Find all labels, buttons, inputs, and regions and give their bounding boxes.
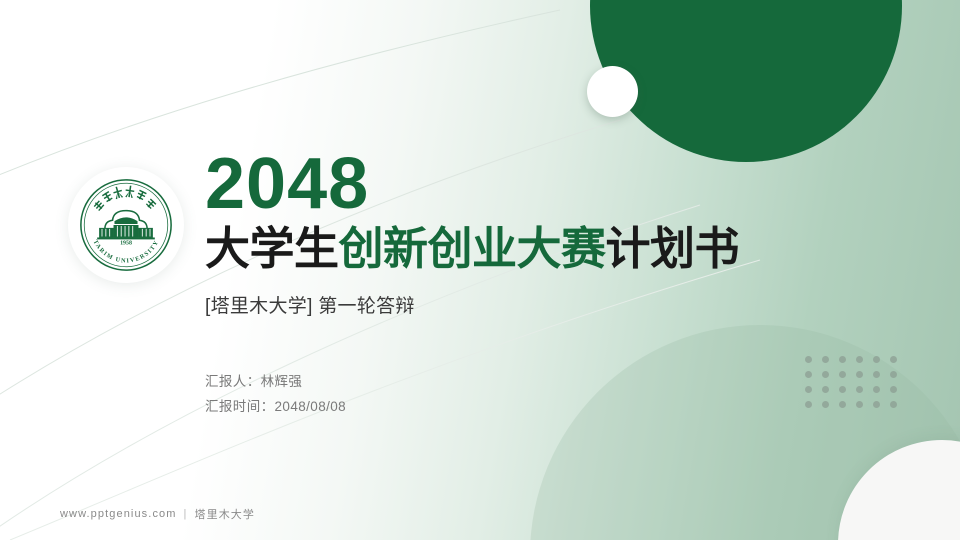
headline-part-1: 大学生 [205, 223, 339, 274]
report-date-line: 汇报时间：2048/08/08 [205, 395, 825, 420]
cover-text-block: 2048 大学生创新创业大赛计划书 [塔里木大学] 第一轮答辩 汇报人：林辉强 … [205, 150, 825, 420]
footer-separator: | [184, 508, 188, 520]
green-accent-circle [590, 0, 902, 162]
svg-text:1958: 1958 [120, 241, 132, 247]
footer-website: www.pptgenius.com [60, 508, 177, 520]
university-logo: 1958 TARIM UNIVERSITY [68, 167, 184, 283]
presenter-line: 汇报人：林辉强 [205, 370, 825, 395]
footer: www.pptgenius.com | 塔里木大学 [60, 506, 255, 522]
headline-part-3: 计划书 [606, 223, 740, 274]
tarim-university-seal-icon: 1958 TARIM UNIVERSITY [78, 177, 174, 273]
white-accent-dot [587, 66, 638, 117]
presentation-meta: 汇报人：林辉强 汇报时间：2048/08/08 [205, 370, 825, 420]
white-corner-circle [838, 440, 960, 540]
footer-organization: 塔里木大学 [195, 506, 256, 522]
headline-part-2: 创新创业大赛 [339, 223, 606, 274]
subtitle: [塔里木大学] 第一轮答辩 [205, 291, 825, 318]
presentation-cover-slide: 1958 TARIM UNIVERSITY 2048 大学生创新创业大赛计划书 … [0, 0, 960, 540]
page-title: 大学生创新创业大赛计划书 [205, 224, 825, 274]
year-heading: 2048 [205, 150, 825, 218]
